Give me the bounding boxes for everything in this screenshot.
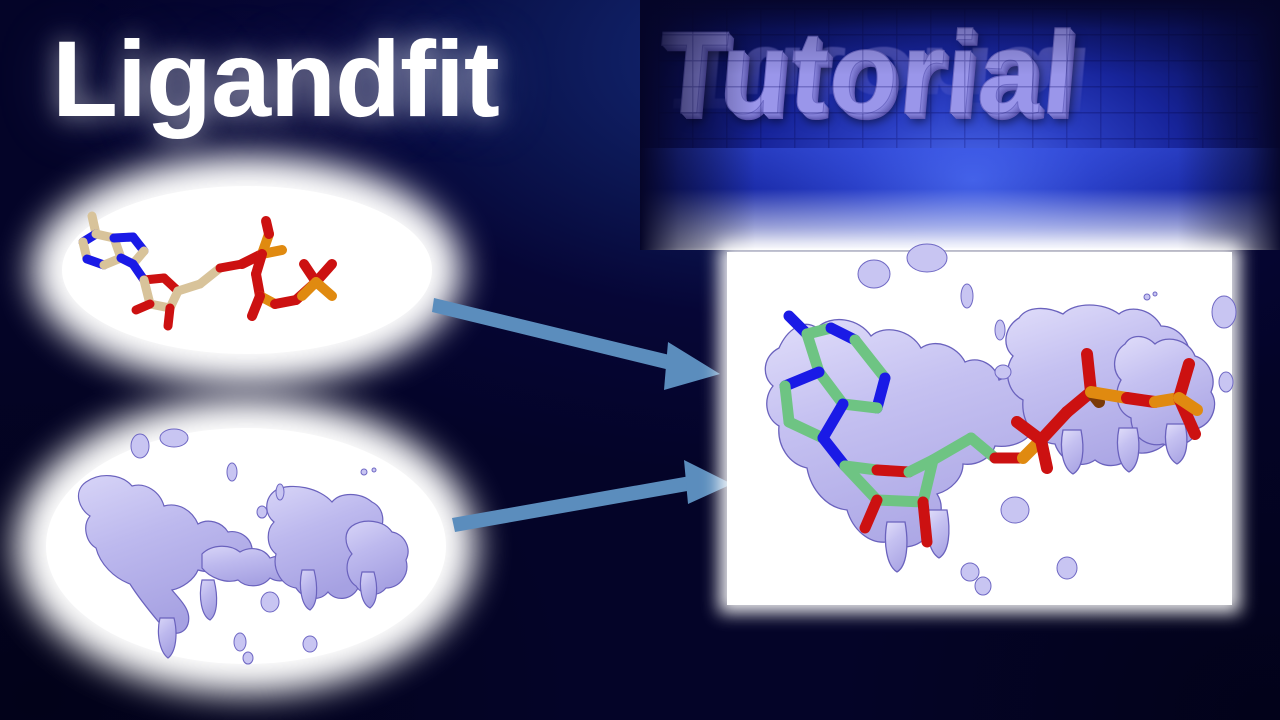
- density-envelope: [765, 305, 1214, 572]
- fitted-ligand-in-density: [727, 252, 1232, 605]
- tutorial-text: Tutorial: [652, 5, 1082, 140]
- alpha-phosphate: [242, 221, 282, 274]
- electron-density-blob-input: [52, 430, 452, 670]
- tutorial-floor-reflection-plane: [640, 148, 1280, 250]
- atp-stick-model-input: [70, 196, 430, 346]
- adenine-ring: [83, 216, 144, 265]
- page-title: Ligandfit: [52, 22, 499, 135]
- slide-canvas: Tutorial Tutorial Ligandfit: [0, 0, 1280, 720]
- tutorial-3d-banner: Tutorial Tutorial: [640, 0, 1280, 250]
- beta-phosphate: [252, 274, 296, 316]
- gamma-phosphate: [296, 264, 332, 300]
- ribose-ring: [136, 278, 178, 326]
